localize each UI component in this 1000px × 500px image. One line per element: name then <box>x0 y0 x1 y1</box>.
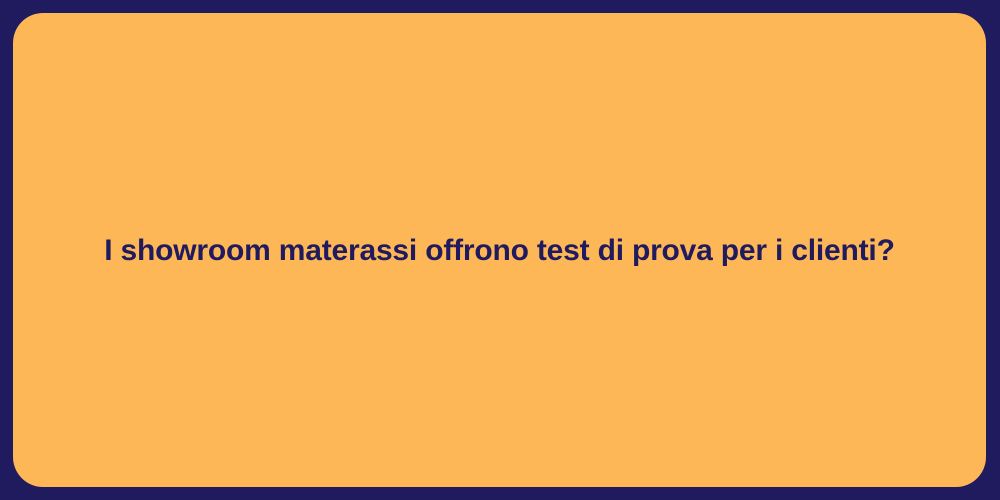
faq-panel: I showroom materassi offrono test di pro… <box>13 13 986 487</box>
faq-card: I showroom materassi offrono test di pro… <box>0 0 1000 500</box>
faq-question-text: I showroom materassi offrono test di pro… <box>104 231 894 270</box>
